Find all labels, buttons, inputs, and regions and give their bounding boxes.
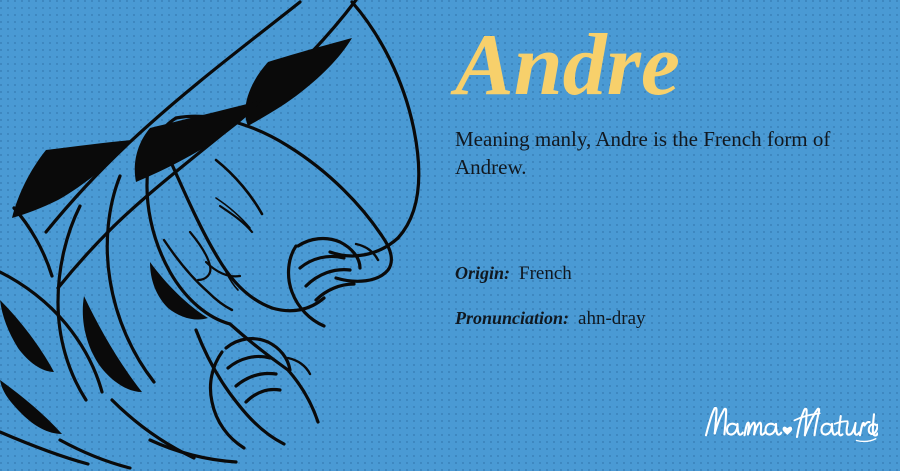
detail-row-pronunciation: Pronunciation: ahn-dray [455, 308, 875, 330]
origin-value: French [519, 263, 572, 285]
name-description: Meaning manly, Andre is the French form … [455, 126, 855, 181]
origin-label: Origin: [455, 263, 510, 284]
name-meaning-card: Andre Meaning manly, Andre is the French… [0, 0, 900, 471]
name-detail-list: Origin: French Pronunciation: ahn-dray [455, 263, 875, 353]
detail-row-origin: Origin: French [455, 263, 875, 285]
pronunciation-label: Pronunciation: [455, 308, 569, 329]
mama-natural-logo[interactable] [702, 401, 878, 445]
sleeping-baby-illustration [0, 0, 450, 471]
name-title: Andre [455, 22, 680, 110]
pronunciation-value: ahn-dray [578, 308, 646, 330]
